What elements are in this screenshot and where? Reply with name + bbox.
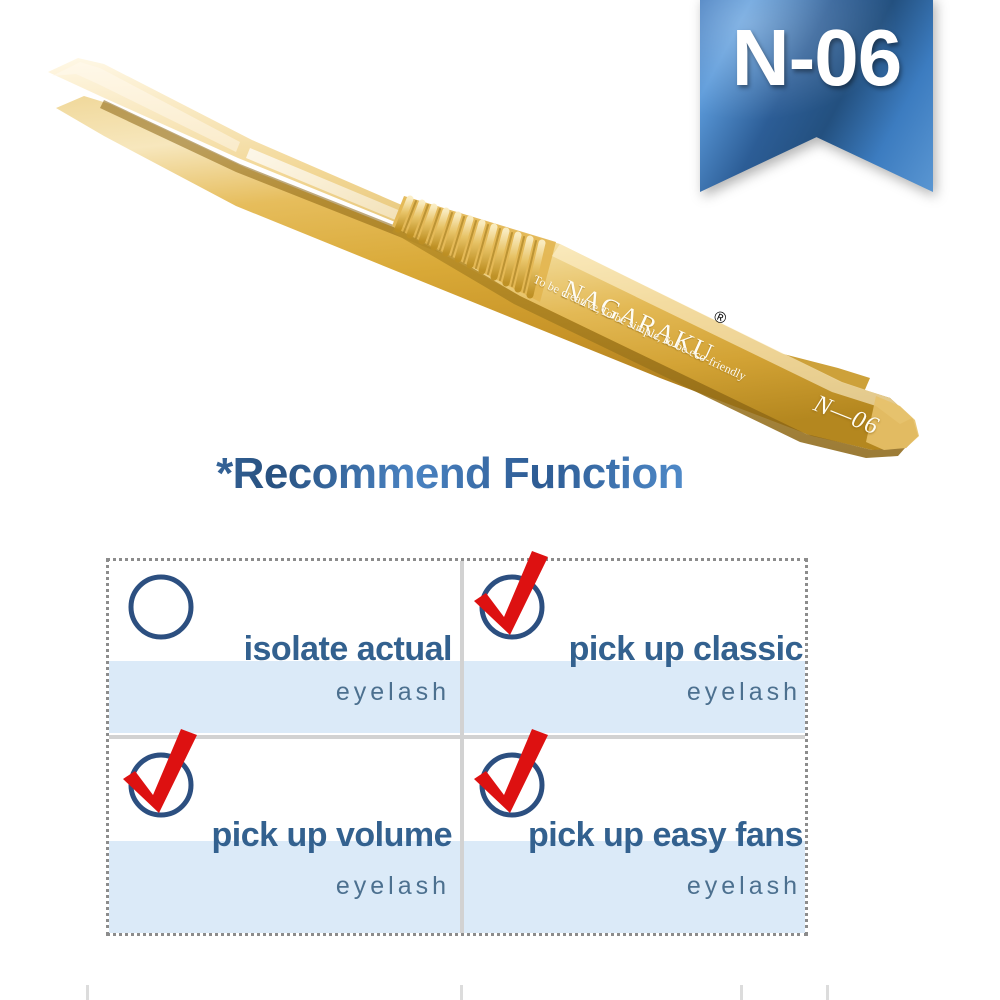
- function-cell-title: pick up easy fans: [460, 817, 803, 854]
- bottom-tick: [740, 985, 743, 1000]
- grid-inner: isolate actual eyelash pick up classic e…: [109, 561, 805, 933]
- function-cell-subtitle: eyelash: [109, 679, 450, 707]
- function-cell-subtitle: eyelash: [109, 873, 450, 901]
- bottom-tick: [460, 985, 463, 1000]
- function-cell-pick-up-classic[interactable]: pick up classic eyelash: [460, 561, 811, 737]
- page-title: *Recommend Function: [0, 452, 900, 496]
- function-cell-pick-up-easy-fans[interactable]: pick up easy fans eyelash: [460, 739, 811, 939]
- model-ribbon-banner: N-06: [700, 0, 933, 192]
- function-cell-title: pick up classic: [460, 631, 803, 668]
- function-cell-pick-up-volume[interactable]: pick up volume eyelash: [109, 739, 460, 939]
- function-cell-isolate-actual[interactable]: isolate actual eyelash: [109, 561, 460, 737]
- bottom-tick: [826, 985, 829, 1000]
- recommend-function-grid: isolate actual eyelash pick up classic e…: [106, 558, 808, 936]
- ribbon-label: N-06: [700, 18, 933, 98]
- function-cell-subtitle: eyelash: [460, 873, 801, 901]
- bottom-tick: [86, 985, 89, 1000]
- product-photo: NAGARAKU ® To be creative,To be simple,T…: [0, 0, 1000, 450]
- function-cell-title: pick up volume: [109, 817, 452, 854]
- function-cell-title: isolate actual: [109, 631, 452, 668]
- function-cell-subtitle: eyelash: [460, 679, 801, 707]
